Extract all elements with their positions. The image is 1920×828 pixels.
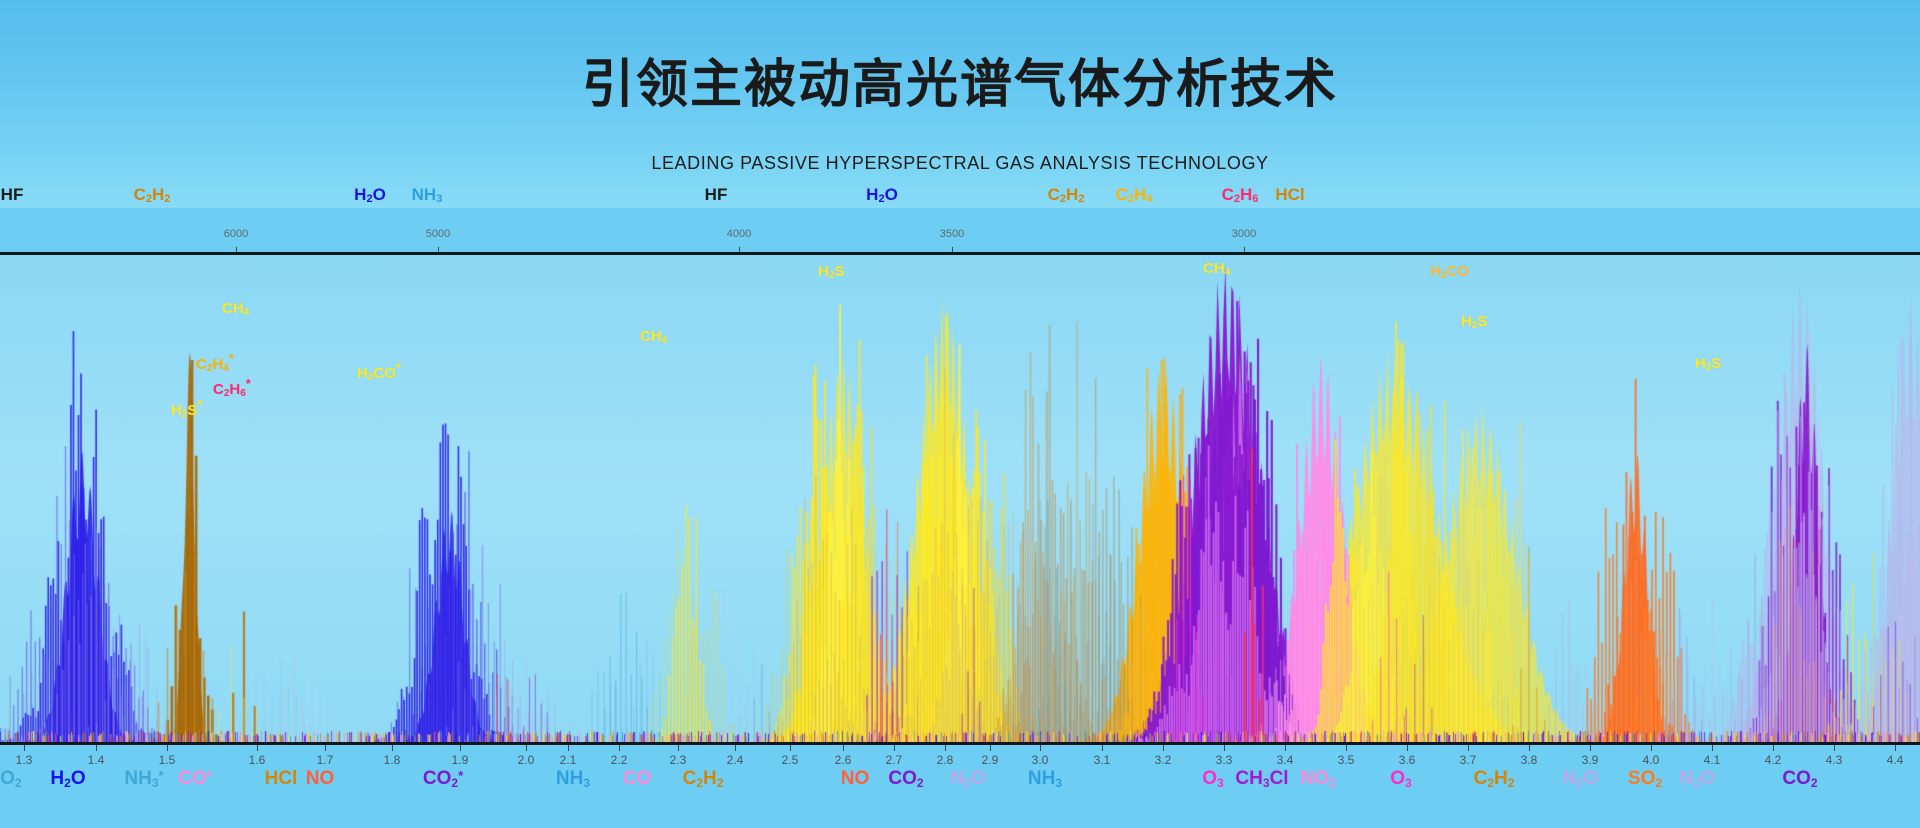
bottom-tick-mark [990, 745, 991, 751]
bottom-tick-label: 2.8 [937, 753, 954, 767]
spectrum-canvas [0, 255, 1920, 742]
bottom-tick-mark [1834, 745, 1835, 751]
bottom-tick-mark [392, 745, 393, 751]
bottom-tick-label: 2.5 [782, 753, 799, 767]
bottom-tick-mark [735, 745, 736, 751]
bottom-tick-mark [1163, 745, 1164, 751]
bottom-tick-mark [843, 745, 844, 751]
bottom-gas-label-o3: O3 [1390, 768, 1411, 790]
bottom-tick-label: 3.2 [1155, 753, 1172, 767]
bottom-tick-mark [790, 745, 791, 751]
bottom-tick-mark [568, 745, 569, 751]
bottom-gas-label-nh3: NH3* [124, 768, 163, 790]
bottom-gas-label-o3: O3 [1202, 768, 1223, 790]
bottom-tick-mark [167, 745, 168, 751]
top-gas-label-hf: HF [1, 185, 24, 205]
bottom-tick-label: 2.6 [835, 753, 852, 767]
bottom-gas-label-ch3cl: CH3Cl [1235, 768, 1288, 790]
top-gas-label-hcl: HCl [1275, 185, 1304, 205]
bottom-gas-label-h2o: H2O [50, 768, 85, 790]
bottom-tick-mark [526, 745, 527, 751]
bottom-tick-mark [1529, 745, 1530, 751]
bottom-gas-label-nh3: NH3 [556, 768, 590, 790]
bottom-tick-label: 1.7 [317, 753, 334, 767]
bottom-gas-label-no: NO [306, 768, 335, 790]
bottom-gas-label-no2: NO2 [1300, 768, 1335, 790]
bottom-tick-mark [1590, 745, 1591, 751]
top-tick-label: 3000 [1232, 228, 1256, 240]
bottom-tick-label: 1.8 [384, 753, 401, 767]
plot-gas-label-h2co: H2CO* [357, 361, 401, 383]
bottom-tick-label: 1.3 [16, 753, 33, 767]
bottom-gas-label-c2h2: C2H2 [683, 768, 724, 790]
bottom-tick-label: 4.0 [1643, 753, 1660, 767]
top-tick-label: 4000 [727, 228, 751, 240]
spectrum-infographic: 引领主被动高光谱气体分析技术 LEADING PASSIVE HYPERSPEC… [0, 0, 1920, 828]
bottom-gas-label-no: NO [841, 768, 870, 790]
bottom-gas-label-co: CO [623, 768, 652, 790]
bottom-gas-label-n2o: N2O [1679, 768, 1714, 790]
bottom-gas-label-n2o: N2O [1562, 768, 1597, 790]
plot-gas-label-h2s: H2S* [171, 398, 202, 420]
bottom-tick-label: 3.8 [1521, 753, 1538, 767]
bottom-tick-label: 3.7 [1460, 753, 1477, 767]
bottom-tick-mark [325, 745, 326, 751]
top-gas-label-hf: HF [705, 185, 728, 205]
plot-gas-label-ch4: CH4 [1203, 260, 1230, 278]
bottom-tick-label: 3.0 [1032, 753, 1049, 767]
bottom-gas-label-so2: SO2 [1628, 768, 1662, 790]
bottom-gas-label-co: CO* [178, 768, 212, 790]
bottom-tick-mark [1468, 745, 1469, 751]
top-gas-label-c2h6: C2H6 [1222, 185, 1259, 205]
bottom-tick-mark [1712, 745, 1713, 751]
bottom-gas-label-hcl: HCl [265, 768, 298, 790]
bottom-tick-mark [257, 745, 258, 751]
bottom-tick-label: 2.1 [560, 753, 577, 767]
bottom-tick-mark [619, 745, 620, 751]
bottom-gas-label-co2: CO2 [1782, 768, 1817, 790]
bottom-tick-label: 2.3 [670, 753, 687, 767]
bottom-tick-label: 3.6 [1399, 753, 1416, 767]
bottom-tick-label: 4.3 [1826, 753, 1843, 767]
bottom-tick-mark [460, 745, 461, 751]
bottom-tick-label: 2.4 [727, 753, 744, 767]
bottom-tick-label: 3.4 [1277, 753, 1294, 767]
bottom-tick-label: 3.5 [1338, 753, 1355, 767]
bottom-tick-label: 1.5 [159, 753, 176, 767]
bottom-tick-mark [96, 745, 97, 751]
plot-gas-label-ch4: CH4 [640, 328, 667, 346]
bottom-tick-mark [678, 745, 679, 751]
bottom-tick-mark [945, 745, 946, 751]
top-gas-label-c2h2: C2H2 [1048, 185, 1085, 205]
top-tick-label: 3500 [940, 228, 964, 240]
top-gas-label-row: HFC2H2H2ONH3HFH2OC2H2C2H4C2H6HCl [0, 0, 1920, 208]
plot-gas-label-ch4: CH4 [222, 300, 249, 318]
bottom-tick-mark [24, 745, 25, 751]
bottom-tick-mark [1102, 745, 1103, 751]
bottom-gas-label-nh3: NH3 [1028, 768, 1062, 790]
plot-gas-label-c2h4: C2H4* [196, 352, 234, 374]
top-gas-label-h2o: H2O [866, 185, 898, 205]
bottom-tick-label: 3.3 [1216, 753, 1233, 767]
bottom-tick-label: 2.2 [611, 753, 628, 767]
bottom-tick-label: 3.9 [1582, 753, 1599, 767]
bottom-gas-label-co2: CO2* [423, 768, 463, 790]
bottom-tick-label: 3.1 [1094, 753, 1111, 767]
bottom-tick-mark [1224, 745, 1225, 751]
plot-gas-label-h2s: H2S [1461, 313, 1487, 331]
bottom-gas-label-n2o: N2O [950, 768, 985, 790]
bottom-gas-label-co2: CO2 [0, 768, 22, 790]
bottom-tick-mark [1407, 745, 1408, 751]
bottom-tick-label: 2.7 [886, 753, 903, 767]
bottom-tick-mark [1346, 745, 1347, 751]
bottom-tick-label: 2.0 [518, 753, 535, 767]
plot-gas-label-h2s: H2S [818, 263, 844, 281]
bottom-tick-label: 1.9 [452, 753, 469, 767]
bottom-tick-label: 4.2 [1765, 753, 1782, 767]
bottom-gas-label-c2h2: C2H2 [1474, 768, 1515, 790]
bottom-tick-mark [1895, 745, 1896, 751]
bottom-tick-label: 1.6 [249, 753, 266, 767]
top-gas-label-c2h2: C2H2 [134, 185, 171, 205]
bottom-tick-mark [1773, 745, 1774, 751]
plot-gas-label-h2co: H2CO [1430, 263, 1469, 281]
top-tick-label: 5000 [426, 228, 450, 240]
top-gas-label-h2o: H2O [354, 185, 386, 205]
bottom-tick-label: 4.1 [1704, 753, 1721, 767]
bottom-tick-label: 2.9 [982, 753, 999, 767]
bottom-tick-mark [1040, 745, 1041, 751]
bottom-tick-mark [1285, 745, 1286, 751]
spectrum-plot: CH4C2H4*C2H6*H2S*H2CO*CH4H2SCH4H2COH2SH2… [0, 255, 1920, 742]
top-gas-label-nh3: NH3 [412, 185, 443, 205]
top-gas-label-c2h4: C2H4 [1116, 185, 1153, 205]
bottom-tick-label: 1.4 [88, 753, 105, 767]
top-tick-label: 6000 [224, 228, 248, 240]
bottom-tick-mark [894, 745, 895, 751]
bottom-gas-label-co2: CO2 [888, 768, 923, 790]
plot-gas-label-h2s: H2S [1695, 355, 1721, 373]
plot-gas-label-c2h6: C2H6* [213, 377, 251, 399]
bottom-tick-label: 4.4 [1887, 753, 1904, 767]
bottom-tick-mark [1651, 745, 1652, 751]
